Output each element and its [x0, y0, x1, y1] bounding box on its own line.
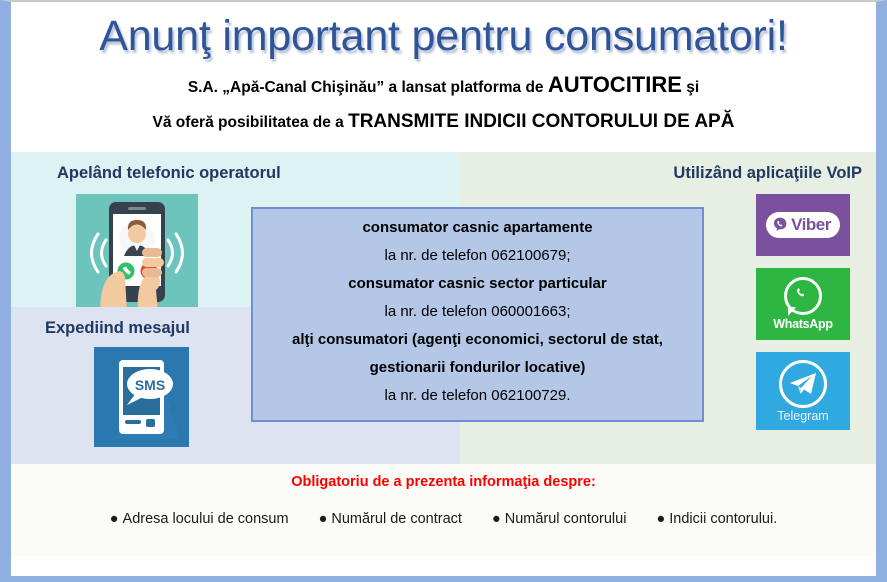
viber-pill: Viber: [766, 212, 840, 238]
whatsapp-label: WhatsApp: [773, 317, 832, 331]
panel-heading-voip: Utilizând aplicaţiile VoIP: [673, 164, 862, 183]
sms-icon: SMS: [94, 347, 189, 447]
viber-label: Viber: [791, 215, 831, 235]
contact-numbers-box: consumator casnic apartamente la nr. de …: [251, 207, 704, 422]
app-badge-list: Viber WhatsApp: [756, 194, 850, 442]
footer-bullet-item: ●Indicii contorului.: [656, 511, 777, 527]
panel-heading-call: Apelând telefonic operatorul: [57, 164, 281, 183]
bullet-dot: ●: [656, 511, 665, 527]
footer-bullet-label: Indicii contorului.: [669, 511, 777, 527]
telegram-label: Telegram: [777, 409, 828, 423]
contact-line: alţi consumatori (agenţi economici, sect…: [267, 332, 688, 347]
channels-band: Apelând telefonic operatorul: [11, 152, 876, 464]
telegram-icon: [779, 360, 827, 408]
bullet-dot: ●: [319, 511, 328, 527]
subtitle-line-1: S.A. „Apă-Canal Chişinău” a lansat platf…: [11, 72, 876, 98]
contact-line: la nr. de telefon 060001663;: [267, 304, 688, 319]
footer-bullet-item: ●Numărul contorului: [492, 511, 626, 527]
whatsapp-badge[interactable]: WhatsApp: [756, 268, 850, 340]
contact-line: consumator casnic sector particular: [267, 276, 688, 291]
subtitle-2-emphasis: TRANSMITE INDICII CONTORULUI DE APĂ: [348, 111, 734, 132]
viber-badge[interactable]: Viber: [756, 194, 850, 256]
contact-line: consumator casnic apartamente: [267, 220, 688, 235]
subtitle-1-suffix: şi: [682, 79, 699, 96]
subtitle-1-prefix: S.A. „Apă-Canal Chişinău” a lansat platf…: [188, 79, 548, 96]
footer-bullet-list: ●Adresa locului de consum ●Numărul de co…: [11, 511, 876, 527]
footer-bullet-label: Numărul de contract: [331, 511, 462, 527]
subtitle-1-emphasis: AUTOCITIRE: [548, 72, 682, 97]
contact-line: gestionarii fondurilor locative): [267, 360, 688, 375]
footer-bullet-item: ●Numărul de contract: [319, 511, 462, 527]
svg-text:SMS: SMS: [135, 377, 165, 393]
footer-bullet-label: Numărul contorului: [505, 511, 627, 527]
subtitle-line-2: Vă oferă posibilitatea de a TRANSMITE IN…: [11, 111, 876, 133]
required-info-footer: Obligatoriu de a prezenta informaţia des…: [11, 464, 876, 556]
whatsapp-icon: [784, 277, 822, 315]
poster-inner: Anunţ important pentru consumatori! S.A.…: [11, 2, 876, 576]
footer-bullet-item: ●Adresa locului de consum: [110, 511, 289, 527]
footer-heading: Obligatoriu de a prezenta informaţia des…: [11, 464, 876, 490]
bullet-dot: ●: [492, 511, 501, 527]
contact-line: la nr. de telefon 062100729.: [267, 388, 688, 403]
announcement-poster: Anunţ important pentru consumatori! S.A.…: [0, 0, 887, 582]
contact-line: la nr. de telefon 062100679;: [267, 248, 688, 263]
viber-icon: [773, 217, 788, 233]
incoming-call-icon: [76, 194, 198, 312]
bullet-dot: ●: [110, 511, 119, 527]
panel-heading-sms: Expediind mesajul: [45, 319, 190, 338]
footer-bullet-label: Adresa locului de consum: [123, 511, 289, 527]
page-title: Anunţ important pentru consumatori!: [11, 14, 876, 59]
subtitle-2-prefix: Vă oferă posibilitatea de a: [153, 114, 349, 131]
telegram-badge[interactable]: Telegram: [756, 352, 850, 430]
title-block: Anunţ important pentru consumatori! S.A.…: [11, 2, 876, 133]
